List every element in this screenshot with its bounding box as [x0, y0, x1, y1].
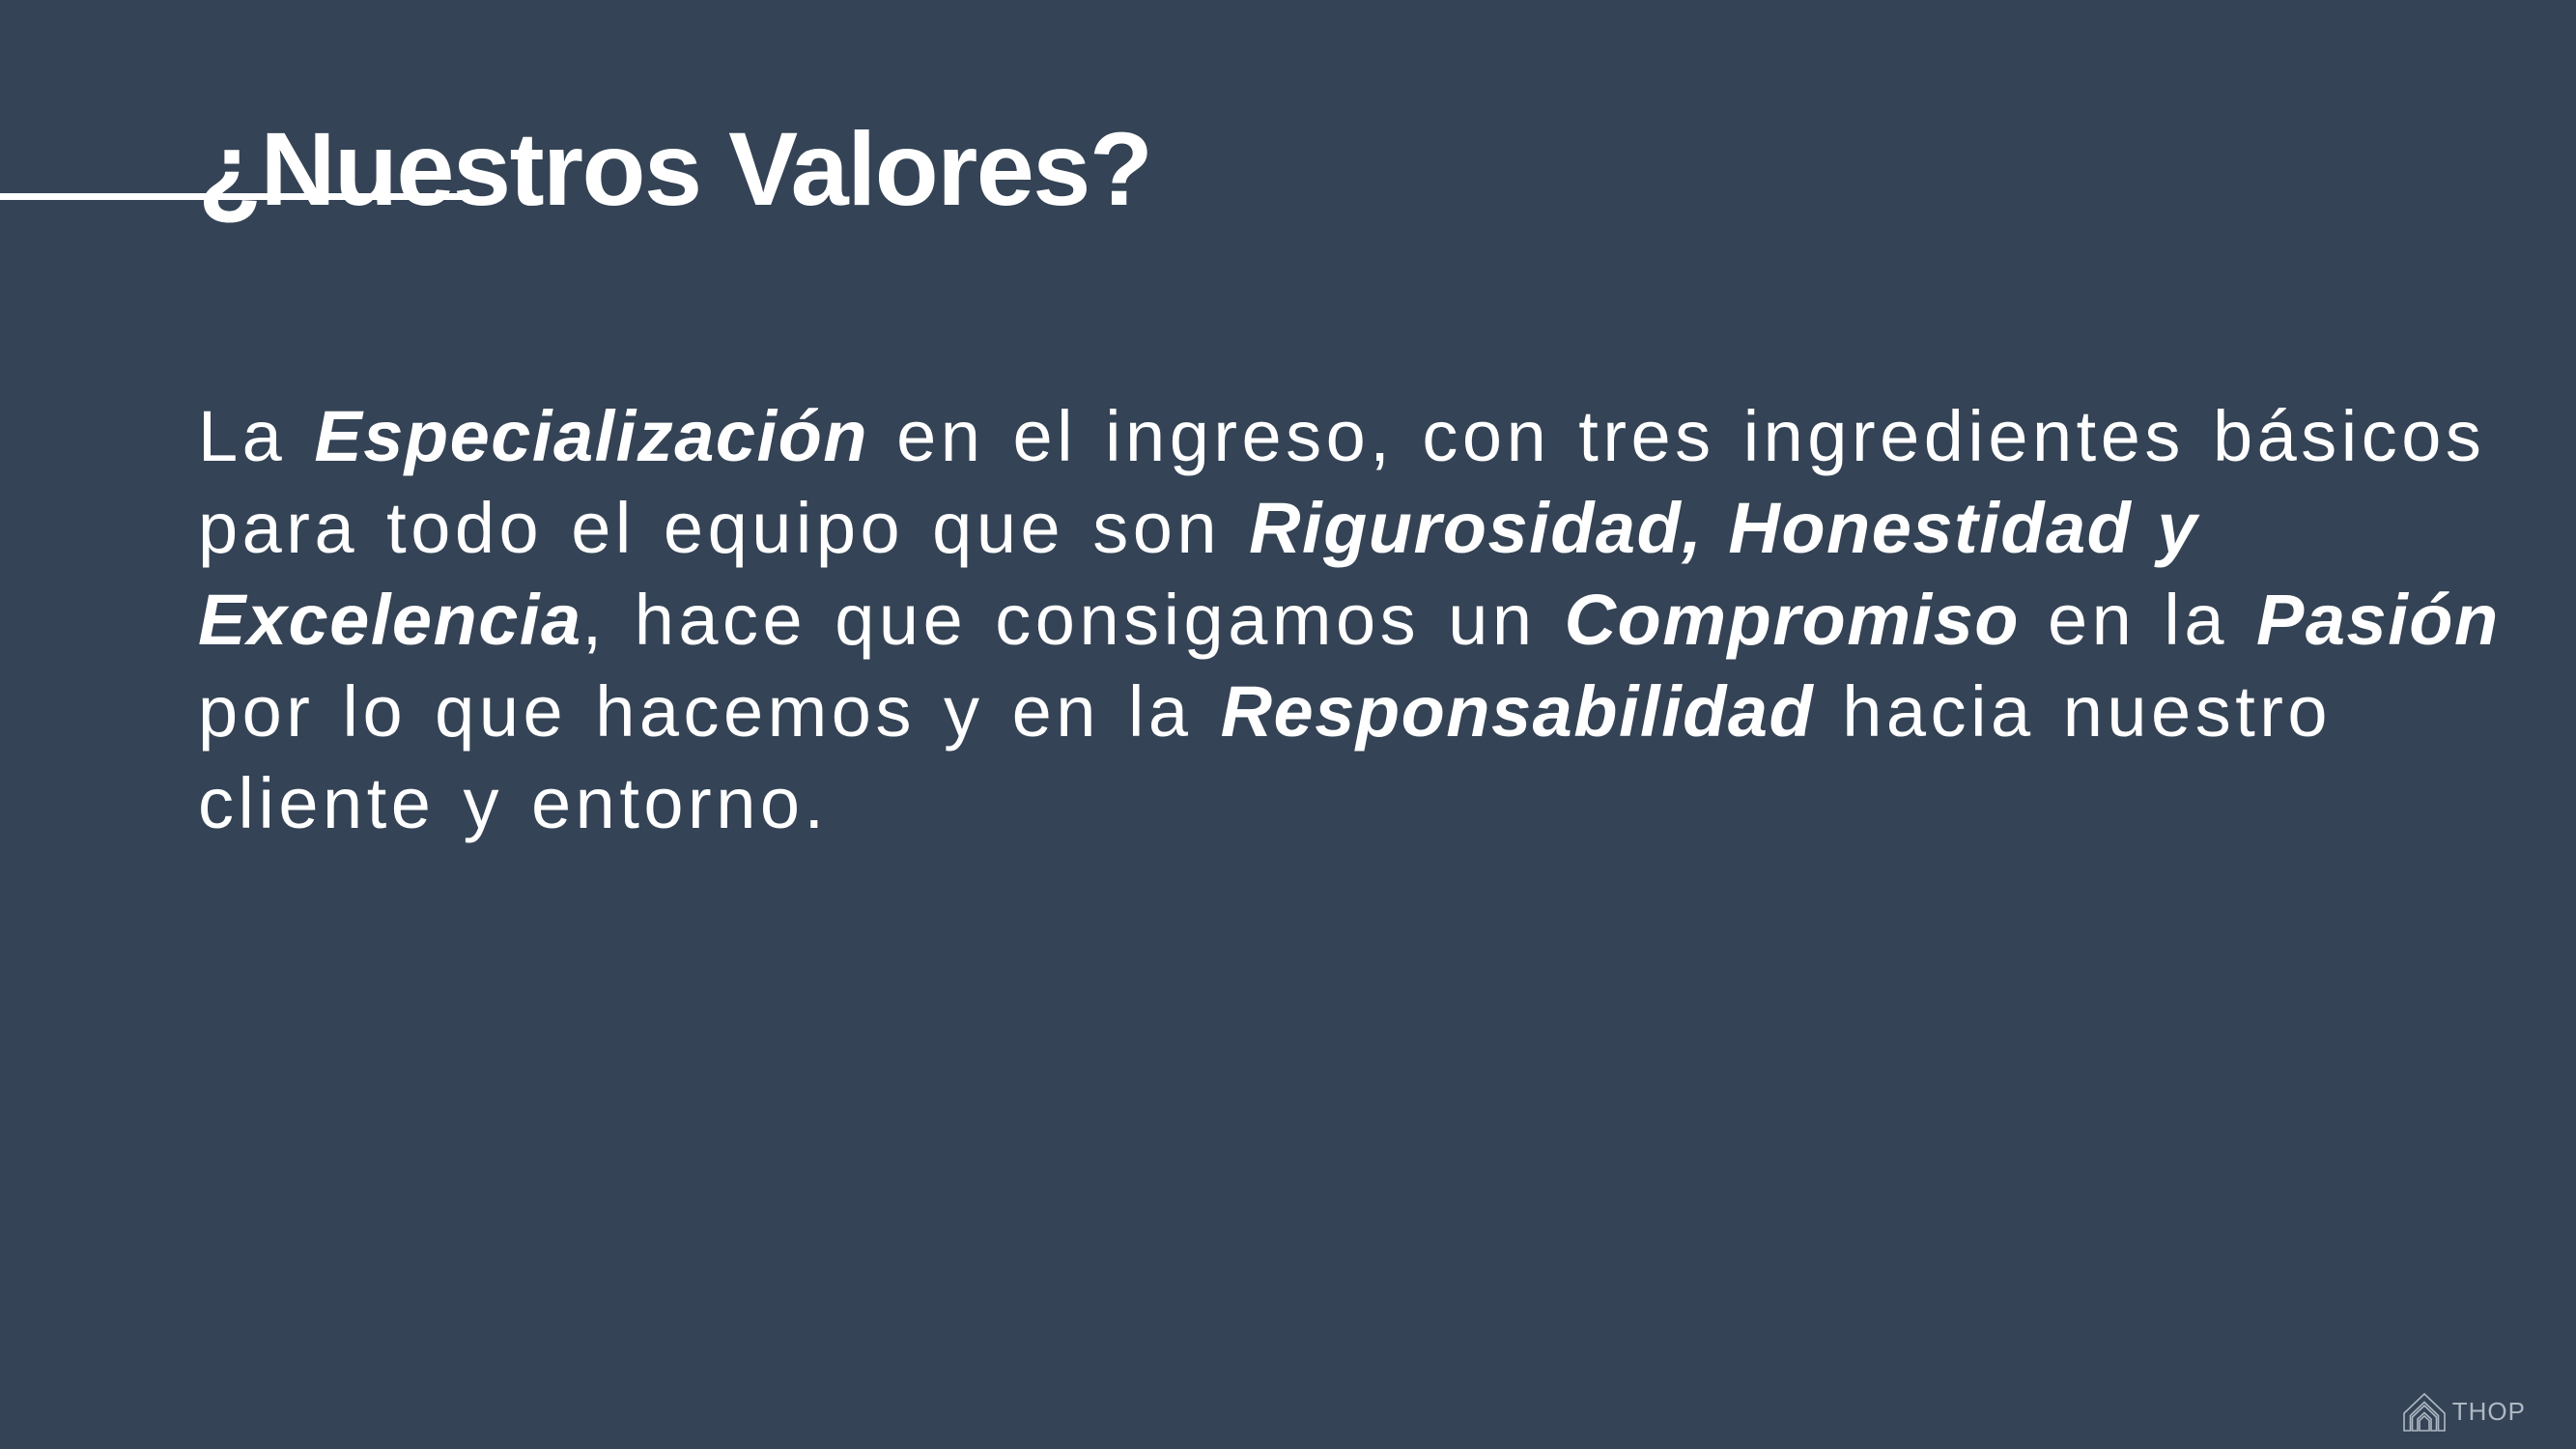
- body-text-segment-5: por lo que hacemos y en la: [198, 671, 1221, 752]
- body-block: La Especialización en el ingreso, con tr…: [198, 390, 2516, 849]
- brand-logo: THOP: [2402, 1391, 2526, 1432]
- presentation-slide: ¿Nuestros Valores? La Especialización en…: [0, 0, 2576, 1449]
- body-emphasis-responsabilidad: Responsabilidad: [1221, 671, 1815, 752]
- body-paragraph: La Especialización en el ingreso, con tr…: [198, 390, 2516, 849]
- body-emphasis-especializacion: Especialización: [314, 396, 868, 476]
- body-text-segment-1: La: [198, 396, 314, 476]
- nested-arch-icon: [2402, 1391, 2447, 1432]
- body-emphasis-pasion: Pasión: [2256, 580, 2500, 660]
- logo-wordmark: THOP: [2452, 1399, 2526, 1424]
- title-block: ¿Nuestros Valores?: [0, 114, 2576, 223]
- body-text-segment-4: en la: [2020, 580, 2256, 660]
- page-title: ¿Nuestros Valores?: [0, 114, 2576, 223]
- body-emphasis-compromiso: Compromiso: [1565, 580, 2020, 660]
- title-underline-rule: [0, 193, 462, 200]
- body-text-segment-3: , hace que consigamos un: [582, 580, 1565, 660]
